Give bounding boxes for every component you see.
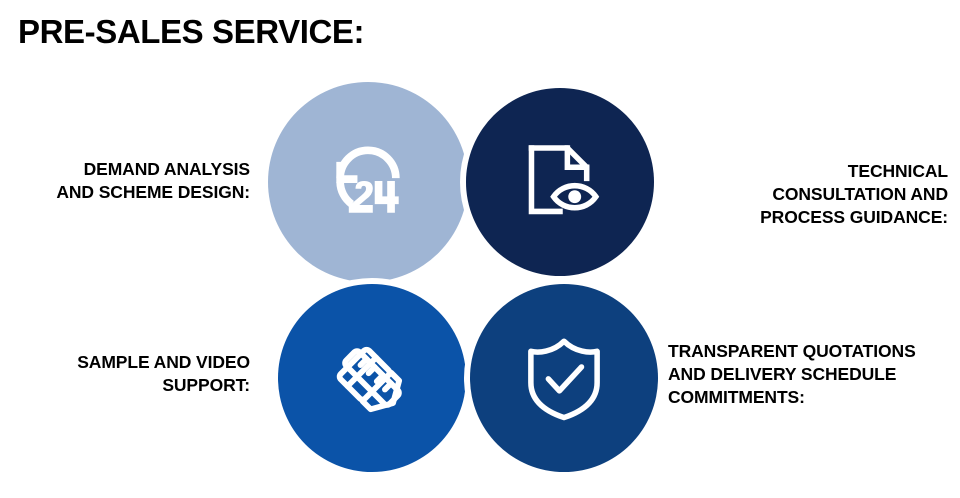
circle-sample-video-support[interactable]: [272, 278, 472, 478]
shield-check-icon: [518, 332, 610, 424]
document-eye-icon: [514, 136, 606, 228]
circle-transparent-quotations[interactable]: [464, 278, 664, 478]
label-demand-analysis: DEMAND ANALYSIS AND SCHEME DESIGN:: [10, 158, 250, 204]
label-transparent-quotations: TRANSPARENT QUOTATIONS AND DELIVERY SCHE…: [668, 340, 960, 409]
circle-cluster: [268, 82, 668, 480]
circle-sample-fill: [278, 284, 466, 472]
circle-transparent-fill: [470, 284, 658, 472]
clock-24-rotate-icon: [320, 134, 416, 230]
circle-technical-consultation[interactable]: [460, 82, 660, 282]
label-sample-video-support: SAMPLE AND VIDEO SUPPORT:: [10, 351, 250, 397]
infographic-canvas: PRE-SALES SERVICE:: [0, 0, 960, 498]
page-title: PRE-SALES SERVICE:: [18, 13, 364, 51]
circle-demand-fill: [268, 82, 468, 282]
circle-demand-analysis[interactable]: [268, 82, 468, 282]
label-technical-consultation: TECHNICAL CONSULTATION AND PROCESS GUIDA…: [718, 160, 948, 229]
crossed-pencil-ruler-icon: [324, 330, 420, 426]
circle-technical-fill: [466, 88, 654, 276]
